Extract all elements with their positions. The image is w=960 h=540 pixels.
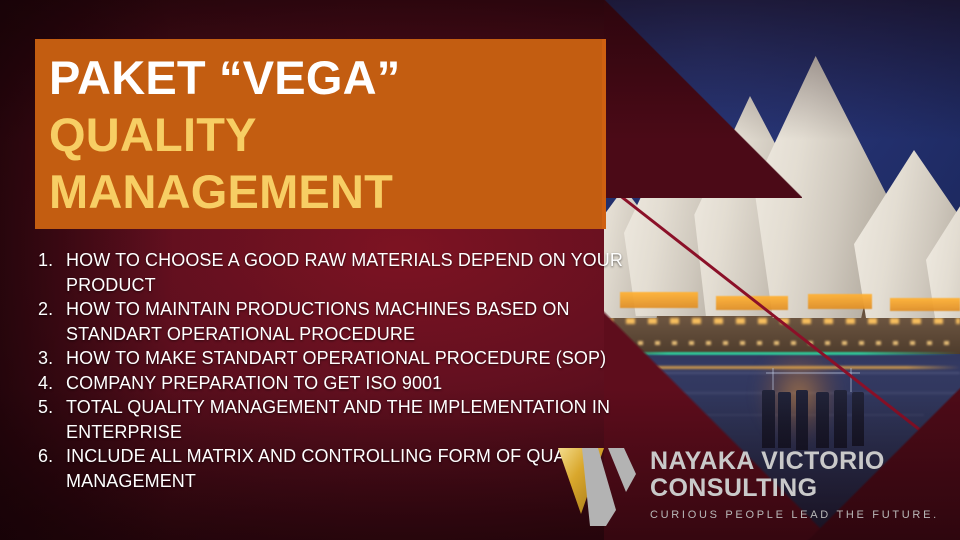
list-item-number: 1. [34,248,66,273]
title-line-1: PAKET “VEGA” [49,49,602,106]
list-item-text: HOW TO MAINTAIN PRODUCTIONS MACHINES BAS… [66,297,634,346]
list-item-text: HOW TO MAKE STANDART OPERATIONAL PROCEDU… [66,346,634,371]
list-item-number: 5. [34,395,66,420]
list-item-text: COMPANY PREPARATION TO GET ISO 9001 [66,371,634,396]
topic-list: 1. HOW TO CHOOSE A GOOD RAW MATERIALS DE… [34,248,634,493]
logo-lockup: NAYAKA VICTORIO CONSULTING CURIOUS PEOPL… [546,444,946,530]
list-item-text: TOTAL QUALITY MANAGEMENT AND THE IMPLEME… [66,395,634,444]
orange-edge-accent [602,39,606,229]
list-item-number: 3. [34,346,66,371]
title-line-2: QUALITY [49,106,602,163]
list-item: 4. COMPANY PREPARATION TO GET ISO 9001 [34,371,634,396]
list-item-number: 2. [34,297,66,322]
title-line-3: MANAGEMENT [49,163,602,220]
nayaka-w-monogram-icon [546,444,638,530]
list-item: 1. HOW TO CHOOSE A GOOD RAW MATERIALS DE… [34,248,634,297]
list-item-number: 4. [34,371,66,396]
title-block: PAKET “VEGA” QUALITY MANAGEMENT [35,39,602,229]
company-name-line-2: CONSULTING [650,475,946,502]
list-item: 3. HOW TO MAKE STANDART OPERATIONAL PROC… [34,346,634,371]
list-item: 2. HOW TO MAINTAIN PRODUCTIONS MACHINES … [34,297,634,346]
company-tagline: CURIOUS PEOPLE LEAD THE FUTURE. [650,507,946,523]
list-item-text: HOW TO CHOOSE A GOOD RAW MATERIALS DEPEN… [66,248,634,297]
list-item: 6. INCLUDE ALL MATRIX AND CONTROLLING FO… [34,444,634,493]
list-item-number: 6. [34,444,66,469]
list-item: 5. TOTAL QUALITY MANAGEMENT AND THE IMPL… [34,395,634,444]
slide-canvas: PAKET “VEGA” QUALITY MANAGEMENT 1. HOW T… [0,0,960,540]
company-name-line-1: NAYAKA VICTORIO [650,448,946,475]
logo-wordmark: NAYAKA VICTORIO CONSULTING CURIOUS PEOPL… [650,448,946,523]
